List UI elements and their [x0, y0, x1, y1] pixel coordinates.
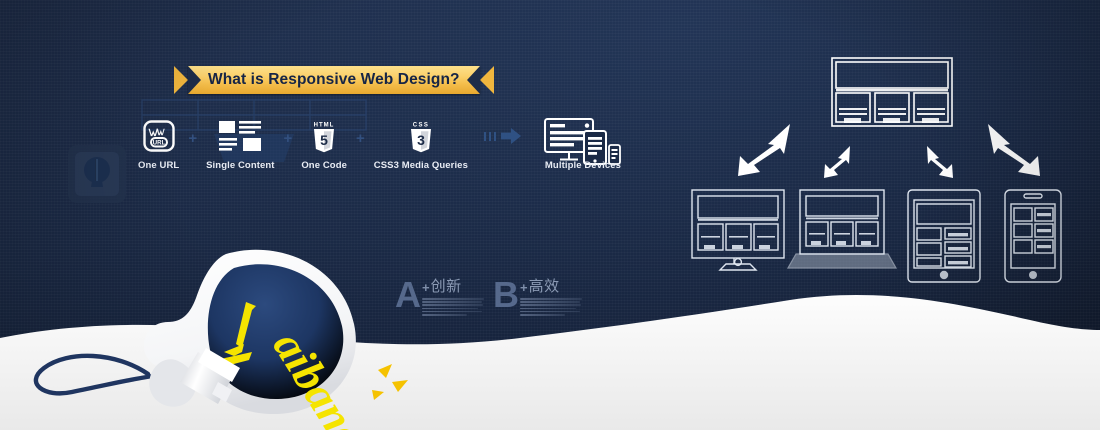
- css3-shield-icon: CSS 3: [406, 119, 436, 153]
- svg-text:3: 3: [417, 132, 425, 148]
- www-url-icon: URL: [142, 119, 176, 153]
- html5-shield-icon: HTML 5: [309, 119, 339, 153]
- page-title: What is Responsive Web Design?: [208, 71, 460, 89]
- svg-text:URL: URL: [152, 140, 165, 147]
- headline-ribbon: What is Responsive Web Design?: [174, 66, 494, 94]
- arrow-down-icon: [988, 124, 1040, 176]
- formula-item-label: CSS3 Media Queries: [374, 160, 468, 171]
- content-blocks-icon: [218, 119, 262, 153]
- svg-text:HTML: HTML: [314, 122, 335, 128]
- formula-item-one-code: HTML 5 One Code: [301, 119, 347, 171]
- multiple-devices-icon: [543, 119, 623, 153]
- formula-item-label: One Code: [301, 160, 347, 171]
- svg-text:CSS: CSS: [413, 122, 430, 128]
- motion-arrow-icon: [484, 119, 521, 144]
- ribbon-tail-left: [174, 66, 188, 94]
- wall-socket-plug-icon: [66, 143, 128, 205]
- formula-result-multiple-devices: Multiple Devices: [543, 119, 623, 171]
- responsive-web-design-banner: What is Responsive Web Design? URL One U…: [0, 0, 1100, 430]
- device-wireframe-row: [690, 188, 1090, 293]
- motion-tick: [494, 132, 496, 141]
- smartphone-wireframe: [1005, 190, 1061, 282]
- arrow-down-icon: [927, 146, 953, 178]
- plus-operator: +: [188, 119, 197, 147]
- formula-item-label: One URL: [138, 160, 179, 171]
- plus-operator: +: [356, 119, 365, 147]
- responsive-layout-wireframe: [830, 56, 954, 133]
- responsive-formula: URL One URL +: [138, 119, 623, 171]
- plus-operator: +: [284, 119, 293, 147]
- ribbon-notch-right: [467, 66, 480, 94]
- arrow-fan: [730, 124, 1050, 189]
- svg-text:5: 5: [320, 132, 328, 148]
- formula-item-one-url: URL One URL: [138, 119, 179, 171]
- arrow-down-icon: [738, 124, 790, 176]
- tablet-wireframe: [908, 190, 980, 282]
- ribbon-tail-right: [480, 66, 494, 94]
- lightbulb-illustration: aibang: [20, 232, 440, 430]
- arrow-down-icon: [824, 146, 850, 178]
- motion-tick: [484, 132, 486, 141]
- ribbon-body: What is Responsive Web Design?: [188, 66, 480, 94]
- formula-item-css3-media-queries: CSS 3 CSS3 Media Queries: [374, 119, 468, 171]
- formula-item-single-content: Single Content: [206, 119, 274, 171]
- formula-result-label: Multiple Devices: [545, 160, 621, 171]
- motion-tick: [489, 132, 491, 141]
- ribbon-notch-left: [188, 66, 201, 94]
- formula-item-label: Single Content: [206, 160, 274, 171]
